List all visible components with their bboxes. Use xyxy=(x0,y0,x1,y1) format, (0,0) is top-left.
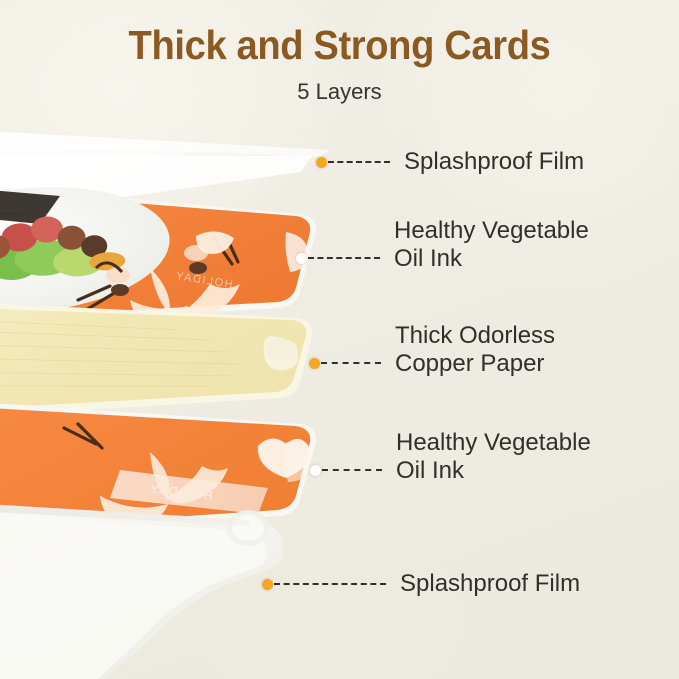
callout-dot-icon xyxy=(310,465,321,476)
page-title: Thick and Strong Cards xyxy=(24,0,655,69)
layer-copper-paper xyxy=(0,300,312,420)
callout-dot-icon xyxy=(316,157,327,168)
callout-dot-icon xyxy=(296,253,307,264)
callout-splashproof-film-bottom[interactable]: Splashproof Film xyxy=(262,570,580,598)
callout-connector-line xyxy=(274,583,386,585)
callout-vegetable-oil-ink-top[interactable]: Healthy Vegetable Oil Ink xyxy=(296,243,589,274)
layer-splashproof-film-bottom xyxy=(0,500,284,679)
callout-dot-icon xyxy=(262,579,273,590)
callout-connector-line xyxy=(321,362,381,364)
product-infographic: Thick and Strong Cards 5 Layers xyxy=(0,0,679,679)
callout-label: Splashproof Film xyxy=(404,148,584,176)
callout-label: Thick Odorless Copper Paper xyxy=(395,322,555,379)
header: Thick and Strong Cards 5 Layers xyxy=(0,0,679,105)
callout-connector-line xyxy=(322,469,382,471)
callout-splashproof-film-top[interactable]: Splashproof Film xyxy=(316,148,584,176)
callout-label: Splashproof Film xyxy=(400,570,580,598)
page-subtitle: 5 Layers xyxy=(0,69,679,105)
callout-copper-paper[interactable]: Thick Odorless Copper Paper xyxy=(309,348,555,379)
callout-connector-line xyxy=(328,161,390,163)
callout-vegetable-oil-ink-bottom[interactable]: Healthy Vegetable Oil Ink xyxy=(310,455,591,486)
callout-dot-icon xyxy=(309,358,320,369)
cat-eye-left xyxy=(111,284,129,296)
callout-connector-line xyxy=(308,257,380,259)
callout-label: Healthy Vegetable Oil Ink xyxy=(394,217,589,274)
callout-label: Healthy Vegetable Oil Ink xyxy=(396,429,591,486)
